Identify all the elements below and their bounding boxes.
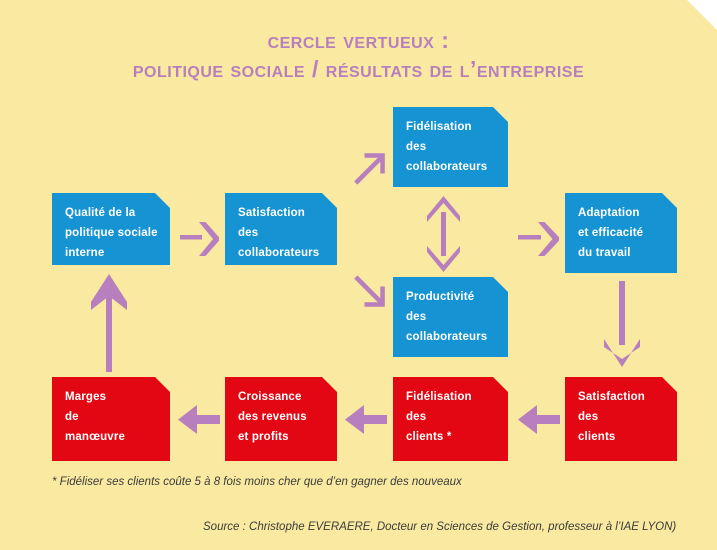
footnote-text: * Fidéliser ses clients coûte 5 à 8 fois… <box>52 476 462 488</box>
box-line: Fidélisation <box>406 118 508 138</box>
box-satisfaction-des-collaborateurs[interactable]: Satisfaction des collaborateurs <box>225 193 337 265</box>
box-line: Marges <box>65 388 170 408</box>
box-line: clients <box>578 428 677 448</box>
arrow-left-icon-satisfaction-clients-to-fidelisation-clients <box>518 405 560 435</box>
box-line: clients * <box>406 428 508 448</box>
arrow-up-long-icon-marges-to-qualite <box>90 274 128 372</box>
box-line: Qualité de la <box>65 204 170 224</box>
box-line: du travail <box>578 244 677 264</box>
box-line: Satisfaction <box>578 388 677 408</box>
title-line-1: Cercle vertueux : <box>0 26 717 55</box>
box-line: collaborateurs <box>406 328 508 348</box>
box-adaptation-et-efficacite-du-travail[interactable]: Adaptation et efficacité du travail <box>565 193 677 273</box>
box-satisfaction-des-clients[interactable]: Satisfaction des clients <box>565 377 677 461</box>
box-line: et efficacité <box>578 224 677 244</box>
box-line: collaborateurs <box>406 158 508 178</box>
box-fidelisation-des-clients[interactable]: Fidélisation des clients * <box>393 377 508 461</box>
box-line: des <box>578 408 677 428</box>
arrow-left-icon-fidelisation-clients-to-croissance <box>345 405 387 435</box>
arrow-diagonal-up-right-icon-satisfaction-to-fidelisation <box>352 152 388 188</box>
box-line: interne <box>65 244 170 264</box>
box-line: des <box>406 308 508 328</box>
box-line: politique sociale <box>65 224 170 244</box>
box-fidelisation-des-collaborateurs[interactable]: Fidélisation des collaborateurs <box>393 107 508 187</box>
box-line: manœuvre <box>65 428 170 448</box>
box-line: des <box>406 408 508 428</box>
arrow-right-icon-productivite-to-adaptation <box>518 222 560 256</box>
box-line: Adaptation <box>578 204 677 224</box>
box-line: des revenus <box>238 408 337 428</box>
arrow-right-icon-qualite-to-satisfaction <box>180 222 220 256</box>
diagram-canvas: Cercle vertueux : politique sociale / ré… <box>0 0 717 550</box>
box-line: des <box>406 138 508 158</box>
box-marges-de-manoeuvre[interactable]: Marges de manœuvre <box>52 377 170 461</box>
box-productivite-des-collaborateurs[interactable]: Productivité des collaborateurs <box>393 277 508 357</box>
arrow-down-long-icon-adaptation-to-satisfaction-clients <box>603 281 641 367</box>
box-qualite-politique-sociale-interne[interactable]: Qualité de la politique sociale interne <box>52 193 170 265</box>
box-line: collaborateurs <box>238 244 337 264</box>
page-title: Cercle vertueux : politique sociale / ré… <box>0 26 717 85</box>
box-line: de <box>65 408 170 428</box>
source-text: Source : Christophe EVERAERE, Docteur en… <box>203 521 676 533</box>
arrow-left-icon-croissance-to-marges <box>178 405 220 435</box>
arrow-vertical-double-icon-fidelisation-productivite <box>427 196 461 272</box>
arrow-diagonal-down-right-icon-satisfaction-to-productivite <box>352 272 388 308</box>
box-line: Productivité <box>406 288 508 308</box>
box-line: et profits <box>238 428 337 448</box>
box-line: Satisfaction <box>238 204 337 224</box>
box-croissance-des-revenus-et-profits[interactable]: Croissance des revenus et profits <box>225 377 337 461</box>
box-line: des <box>238 224 337 244</box>
box-line: Croissance <box>238 388 337 408</box>
box-line: Fidélisation <box>406 388 508 408</box>
title-line-2: politique sociale / résultats de l’entre… <box>0 55 717 84</box>
